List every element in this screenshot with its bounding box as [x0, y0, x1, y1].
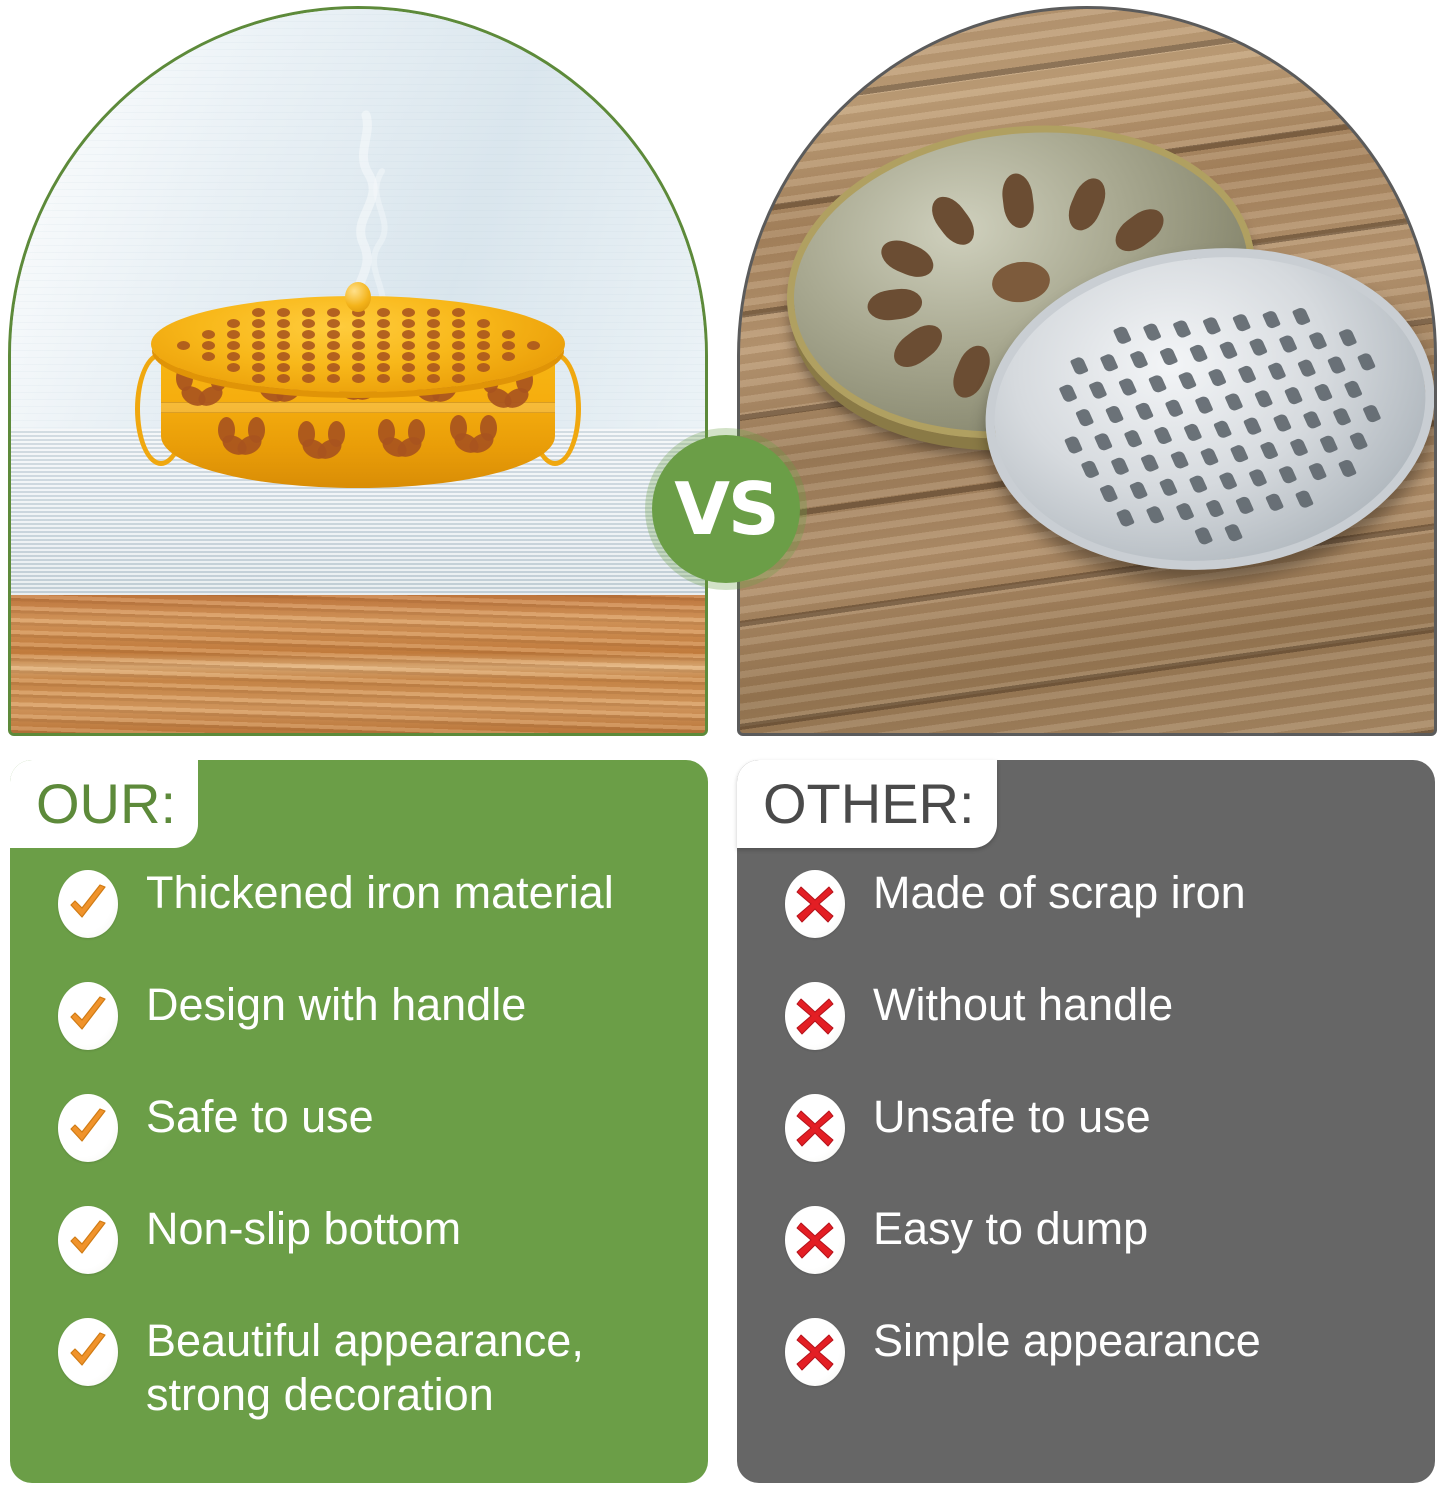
lid-hole: [302, 330, 315, 339]
grater-spike: [1100, 352, 1119, 373]
vs-badge: VS: [652, 435, 800, 583]
grater-spike: [1118, 377, 1137, 398]
lid-hole: [427, 352, 440, 361]
feature-item-label: Unsafe to use: [873, 1088, 1151, 1144]
lid-hole: [427, 319, 440, 328]
yellow-coil-holder: [143, 260, 573, 510]
feature-item: Beautiful appearance, strong decoration: [58, 1312, 682, 1422]
grater-spike: [1238, 364, 1257, 385]
lid-hole: [427, 374, 440, 383]
feature-item-label: Safe to use: [146, 1088, 374, 1144]
lid-hole: [227, 319, 240, 328]
lid-hole: [352, 363, 365, 372]
feature-item-label: Beautiful appearance, strong decoration: [146, 1312, 584, 1422]
grater-spike: [1183, 422, 1202, 443]
feature-item-label: Design with handle: [146, 976, 526, 1032]
lid-hole: [452, 341, 465, 350]
grater-spike: [1219, 340, 1238, 361]
grater-spike: [1124, 428, 1143, 449]
grater-spike: [1309, 330, 1328, 351]
lid-hole: [227, 330, 240, 339]
lid-petal-cutout: [1062, 173, 1111, 235]
lid-hole: [227, 363, 240, 372]
grater-spike: [1308, 461, 1327, 482]
grater-spike: [1099, 483, 1118, 504]
feature-item: Easy to dump: [785, 1200, 1409, 1274]
grater-spike: [1159, 346, 1178, 367]
feature-item-label: Non-slip bottom: [146, 1200, 461, 1256]
lid-hole: [352, 319, 365, 328]
grater-spike: [1194, 525, 1213, 546]
grater-spike: [1165, 398, 1184, 419]
lid-hole: [302, 363, 315, 372]
grater-spike: [1081, 459, 1100, 480]
grater-spike: [1116, 508, 1135, 529]
feature-item: Made of scrap iron: [785, 864, 1409, 938]
grater-spike: [1200, 446, 1219, 467]
other-features-panel: OTHER: Made of scrap ironWithout handleU…: [737, 760, 1435, 1483]
lid-hole: [477, 363, 490, 372]
grater-spike: [1314, 382, 1333, 403]
lid-hole: [402, 374, 415, 383]
grater-spike: [1130, 349, 1149, 370]
feature-item: Non-slip bottom: [58, 1200, 682, 1274]
grater-spike: [1344, 379, 1363, 400]
other-panel-tag-label: OTHER:: [763, 776, 975, 832]
grater-spike: [1195, 395, 1214, 416]
other-product-photo: [737, 6, 1437, 736]
lid-hole: [327, 363, 340, 372]
grater-spike: [1059, 383, 1078, 404]
lid-hole: [377, 330, 390, 339]
check-icon: [58, 982, 118, 1050]
check-icon: [58, 870, 118, 938]
lid-hole: [327, 352, 340, 361]
grater-spike: [1349, 431, 1368, 452]
lid-petal-cutout: [1000, 172, 1036, 230]
lid-hole: [377, 341, 390, 350]
feature-item: Design with handle: [58, 976, 682, 1050]
lid-hole: [427, 308, 440, 317]
lid-hole: [477, 319, 490, 328]
grater-spike: [1265, 492, 1284, 513]
lid-hole: [452, 352, 465, 361]
lid-hole: [502, 330, 515, 339]
lid-hole: [402, 308, 415, 317]
check-icon: [58, 1206, 118, 1274]
other-feature-list: Made of scrap ironWithout handleUnsafe t…: [737, 864, 1435, 1386]
cross-icon: [785, 982, 845, 1050]
grater-spike: [1357, 351, 1376, 372]
lid-hole: [252, 352, 265, 361]
lid-hole: [352, 374, 365, 383]
our-feature-list: Thickened iron materialDesign with handl…: [10, 864, 708, 1422]
feature-item: Safe to use: [58, 1088, 682, 1162]
grater-spike: [1135, 401, 1154, 422]
photo-comparison-row: VS: [0, 0, 1445, 745]
grater-spike: [1225, 392, 1244, 413]
grater-spike: [1219, 471, 1238, 492]
lid-hole: [277, 341, 290, 350]
cross-icon: [785, 870, 845, 938]
check-icon: [58, 1094, 118, 1162]
grater-spike: [1208, 367, 1227, 388]
lid-hole: [377, 352, 390, 361]
lid-hole: [252, 374, 265, 383]
lid-hole: [177, 341, 190, 350]
grater-spike: [1094, 431, 1113, 452]
grater-spike: [1129, 480, 1148, 501]
grater-spike: [1111, 456, 1130, 477]
lid-hole: [252, 363, 265, 372]
lid-hole: [327, 341, 340, 350]
lid-hole: [477, 352, 490, 361]
lid-petal-cutout: [887, 318, 949, 375]
grater-spike: [1148, 373, 1167, 394]
grater-spike: [1295, 489, 1314, 510]
grater-spike: [1140, 453, 1159, 474]
lid-petal-cutout: [1109, 202, 1171, 259]
lid-hole: [402, 363, 415, 372]
lid-hole: [477, 341, 490, 350]
cross-icon: [785, 1206, 845, 1274]
grater-spike: [1303, 409, 1322, 430]
grater-spike: [1292, 306, 1311, 327]
lid-hole: [277, 330, 290, 339]
lid-hole: [202, 352, 215, 361]
lid-hole: [452, 363, 465, 372]
grater-spike: [1105, 404, 1124, 425]
lid-hole: [302, 341, 315, 350]
lid-hole: [327, 330, 340, 339]
check-icon: [58, 1318, 118, 1386]
holder-knob: [345, 282, 371, 312]
grater-spike: [1327, 355, 1346, 376]
grater-spike: [1189, 343, 1208, 364]
grater-spike: [1297, 358, 1316, 379]
grater-spike: [1213, 419, 1232, 440]
lid-hole: [452, 308, 465, 317]
grater-spike: [1362, 403, 1381, 424]
feature-item-label: Made of scrap iron: [873, 864, 1246, 920]
grater-spike: [1232, 312, 1251, 333]
feature-item: Without handle: [785, 976, 1409, 1050]
lid-hole: [277, 363, 290, 372]
lid-hole: [502, 352, 515, 361]
lid-hole: [452, 319, 465, 328]
grater-spike: [1206, 498, 1225, 519]
lid-petal-cutout: [876, 234, 938, 283]
lid-hole: [327, 374, 340, 383]
our-product-photo: [8, 6, 708, 736]
grater-spike: [1075, 407, 1094, 428]
lid-hole: [252, 319, 265, 328]
feature-item: Thickened iron material: [58, 864, 682, 938]
grater-spike: [1159, 477, 1178, 498]
lid-hole: [327, 308, 340, 317]
lid-hole: [252, 308, 265, 317]
grater-spike: [1070, 356, 1089, 377]
feature-item: Unsafe to use: [785, 1088, 1409, 1162]
lid-hole: [302, 374, 315, 383]
lid-hole: [302, 308, 315, 317]
cross-icon: [785, 1318, 845, 1386]
grater-spike: [1290, 437, 1309, 458]
grater-spike: [1230, 443, 1249, 464]
lid-hole: [277, 352, 290, 361]
lid-hole: [352, 352, 365, 361]
grater-spike: [1278, 464, 1297, 485]
grater-spike: [1279, 334, 1298, 355]
lid-hole: [452, 374, 465, 383]
lid-center-hole: [990, 259, 1052, 306]
grater-spike: [1154, 425, 1173, 446]
lid-hole: [377, 374, 390, 383]
vs-badge-label: VS: [674, 473, 778, 545]
lid-hole: [477, 330, 490, 339]
lid-petal-cutout: [866, 286, 924, 322]
lid-hole: [427, 363, 440, 372]
grater-spike: [1170, 450, 1189, 471]
grater-spike: [1338, 327, 1357, 348]
grater-spike: [1202, 315, 1221, 336]
lid-hole: [427, 341, 440, 350]
other-panel-tag: OTHER:: [737, 760, 997, 848]
lid-hole: [277, 374, 290, 383]
grater-spike: [1146, 504, 1165, 525]
feature-comparison-panels: OUR: Thickened iron materialDesign with …: [0, 760, 1445, 1489]
grater-spike: [1178, 370, 1197, 391]
grater-spike: [1173, 319, 1192, 340]
grater-spike: [1089, 380, 1108, 401]
lid-hole: [402, 319, 415, 328]
lid-hole: [377, 363, 390, 372]
lid-hole: [227, 341, 240, 350]
grater-spike: [1235, 495, 1254, 516]
our-panel-tag: OUR:: [10, 760, 198, 848]
feature-item-label: Thickened iron material: [146, 864, 614, 920]
cross-icon: [785, 1094, 845, 1162]
lid-hole: [227, 352, 240, 361]
grater-spike: [1273, 413, 1292, 434]
grater-spike: [1249, 467, 1268, 488]
lid-hole: [402, 352, 415, 361]
grater-spike: [1243, 416, 1262, 437]
grater-spike: [1338, 458, 1357, 479]
our-panel-tag-label: OUR:: [36, 776, 176, 832]
lid-petal-cutout: [924, 190, 981, 252]
feature-item: Simple appearance: [785, 1312, 1409, 1386]
lid-hole: [352, 330, 365, 339]
grater-spike: [1254, 388, 1273, 409]
lid-hole: [502, 341, 515, 350]
lid-hole: [352, 341, 365, 350]
lid-hole: [277, 319, 290, 328]
lid-hole: [327, 319, 340, 328]
lid-hole: [427, 330, 440, 339]
grater-spike: [1143, 322, 1162, 343]
feature-item-label: Easy to dump: [873, 1200, 1148, 1256]
lid-hole: [402, 341, 415, 350]
grater-spike: [1284, 385, 1303, 406]
grater-spike: [1260, 440, 1279, 461]
lid-hole: [452, 330, 465, 339]
grater-spike: [1333, 406, 1352, 427]
lid-hole: [377, 319, 390, 328]
lid-hole: [252, 330, 265, 339]
feature-item-label: Without handle: [873, 976, 1173, 1032]
grater-spike: [1249, 337, 1268, 358]
grater-spike: [1113, 325, 1132, 346]
grater-spike: [1224, 522, 1243, 543]
our-features-panel: OUR: Thickened iron materialDesign with …: [10, 760, 708, 1483]
lid-hole: [202, 330, 215, 339]
lid-hole: [377, 308, 390, 317]
lid-hole: [302, 352, 315, 361]
photo-wood-edge: [11, 595, 705, 733]
feature-item-label: Simple appearance: [873, 1312, 1261, 1368]
lid-hole: [202, 341, 215, 350]
lid-hole: [277, 308, 290, 317]
lid-hole: [402, 330, 415, 339]
grater-spike: [1319, 434, 1338, 455]
grater-spike: [1064, 435, 1083, 456]
lid-hole: [252, 341, 265, 350]
grater-spike: [1268, 361, 1287, 382]
grater-spike: [1262, 309, 1281, 330]
grater-spike: [1176, 501, 1195, 522]
lid-hole: [302, 319, 315, 328]
lid-hole: [527, 341, 540, 350]
grater-spike: [1189, 474, 1208, 495]
